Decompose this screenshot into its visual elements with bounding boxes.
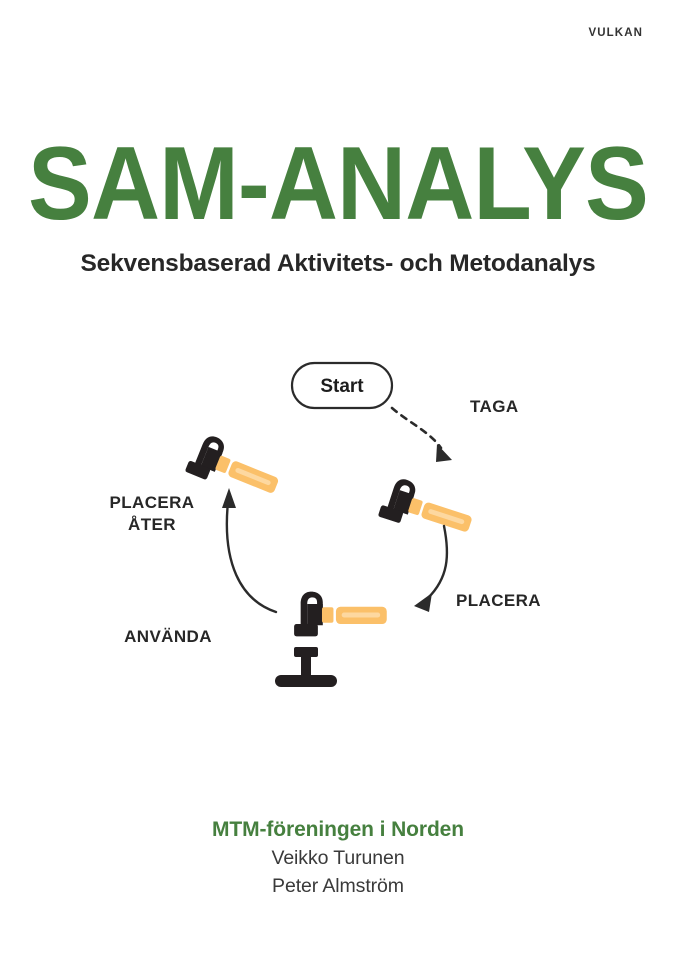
publisher-logo: VULKAN [588, 27, 643, 39]
page-subtitle: Sekvensbaserad Aktivitets- och Metodanal… [0, 250, 676, 278]
label-placera-ater-line2: ÅTER [128, 515, 176, 534]
title-block: SAM-ANALYS Sekvensbaserad Aktivitets- oc… [0, 132, 676, 278]
label-placera: PLACERA [456, 591, 541, 610]
start-node[interactable]: Start [292, 363, 392, 408]
nail-and-base-icon [275, 647, 337, 687]
cycle-diagram: Start TAGA PLACERA ANVÄNDA PLACERA ÅTER [0, 350, 676, 710]
label-anvanda: ANVÄNDA [124, 627, 212, 646]
author-name-2: Peter Almström [0, 875, 676, 898]
hammer-icon-top-left [185, 431, 285, 505]
footer-block: MTM-föreningen i Norden Veikko Turunen P… [0, 818, 676, 898]
hammer-icon-right [378, 475, 477, 544]
start-node-label: Start [320, 376, 364, 397]
label-taga: TAGA [470, 397, 519, 416]
arrow-placera [414, 526, 447, 612]
arrow-anvanda [222, 488, 276, 612]
label-placera-ater-line1: PLACERA [110, 493, 195, 512]
organization-name: MTM-föreningen i Norden [0, 818, 676, 842]
page-title: SAM-ANALYS [27, 132, 649, 236]
author-name-1: Veikko Turunen [0, 847, 676, 870]
hammer-icon-bottom [294, 592, 387, 637]
arrow-taga [392, 408, 452, 462]
